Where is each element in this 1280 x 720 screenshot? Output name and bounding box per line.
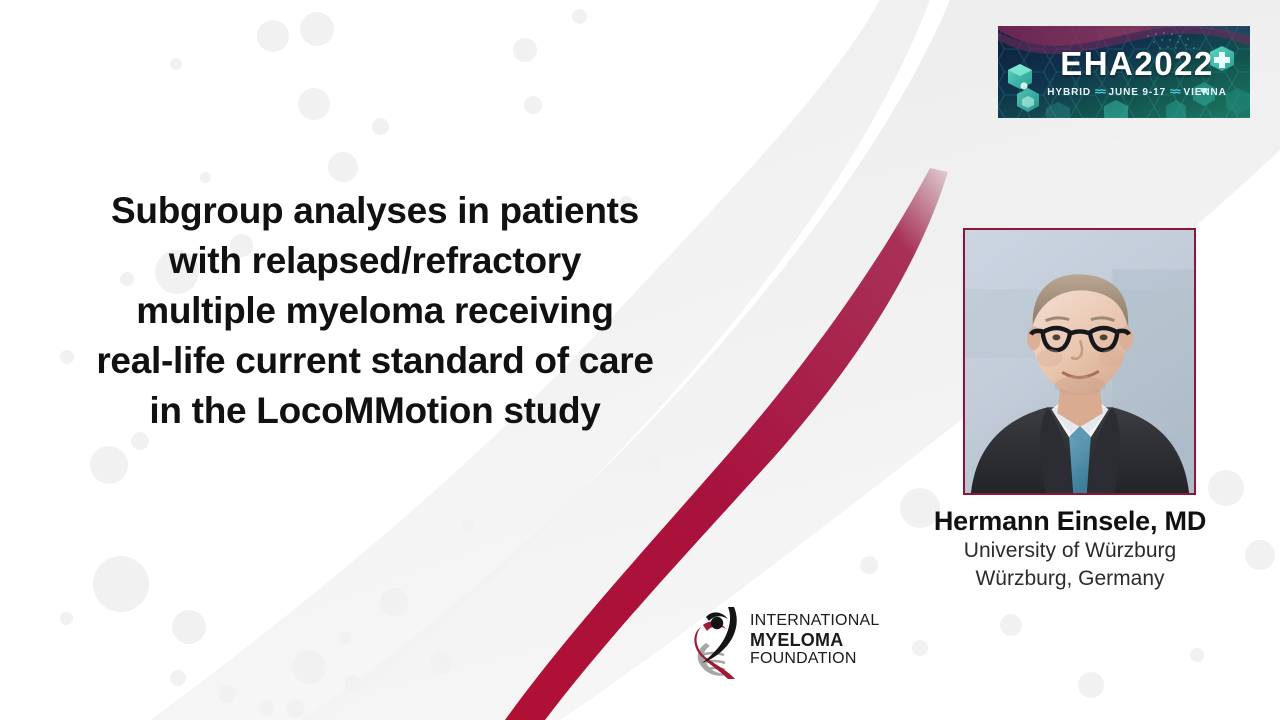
presenter-affiliation: University of Würzburg [860,537,1280,565]
title-slide: Subgroup analyses in patients with relap… [0,0,1280,720]
presenter-details: Hermann Einsele, MD University of Würzbu… [860,505,1280,593]
eha-mode-label: HYBRID [1047,87,1091,98]
title-line-5: in the LocoMMotion study [40,386,710,436]
presenter-location: Würzburg, Germany [860,565,1280,593]
title-line-2: with relapsed/refractory [40,236,710,286]
wave-divider-icon: ≈≈ [1095,86,1105,98]
imf-logo: INTERNATIONAL MYELOMA FOUNDATION [690,600,870,680]
imf-line-myeloma: MYELOMA [750,631,879,649]
eha-banner-subtitle: HYBRID ≈≈ JUNE 9-17 ≈≈ VIENNA [1047,86,1226,98]
eha-city-label: VIENNA [1184,87,1227,98]
title-line-1: Subgroup analyses in patients [40,186,710,236]
presenter-portrait [963,228,1196,495]
wave-divider-icon-2: ≈≈ [1170,86,1180,98]
eha-dates-label: JUNE 9-17 [1108,87,1166,98]
imf-line-international: INTERNATIONAL [750,613,879,629]
page-title: Subgroup analyses in patients with relap… [40,186,710,436]
imf-wordmark: INTERNATIONAL MYELOMA FOUNDATION [750,613,879,667]
eha-banner-title: EHA2022 [1060,47,1214,80]
title-line-4: real-life current standard of care [40,336,710,386]
title-line-3: multiple myeloma receiving [40,286,710,336]
imf-helix-figure-icon [690,601,744,679]
imf-line-foundation: FOUNDATION [750,651,879,667]
presenter-name: Hermann Einsele, MD [860,505,1280,537]
eha2022-conference-banner: EHA2022 HYBRID ≈≈ JUNE 9-17 ≈≈ VIENNA [998,26,1250,118]
portrait-photo-illustration [965,230,1194,493]
